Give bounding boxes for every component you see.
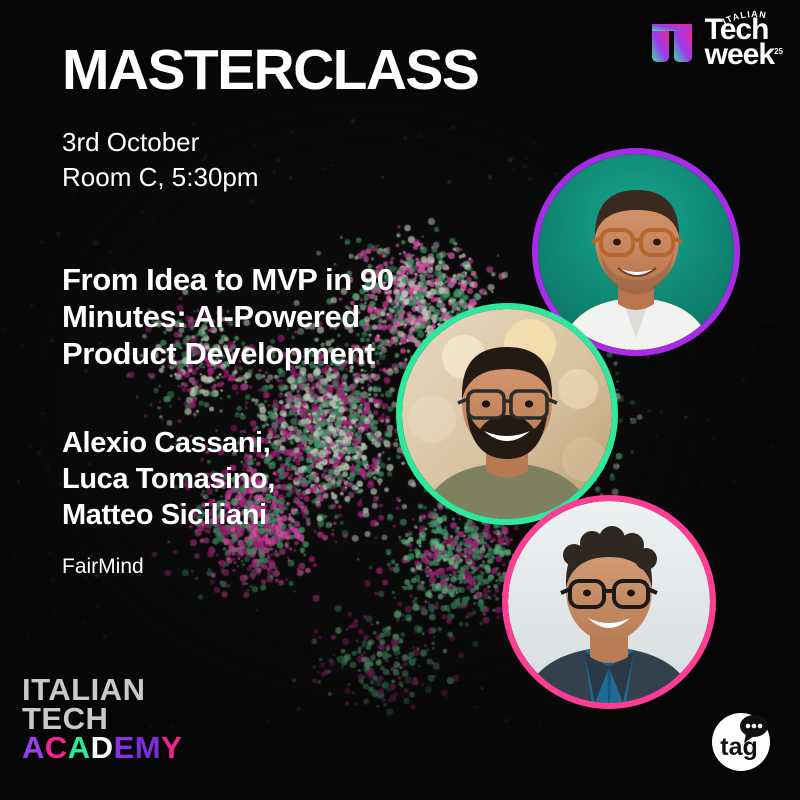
week-word: week xyxy=(705,43,774,68)
speaker-name-2: Luca Tomasino, xyxy=(62,462,482,498)
speaker-company: FairMind xyxy=(62,555,482,579)
speaker-names: Alexio Cassani, Luca Tomasino, Matteo Si… xyxy=(62,426,482,533)
tag-logo: tag xyxy=(708,706,774,772)
event-location: Room C, 5:30pm xyxy=(62,160,482,195)
academy-line-academy: ACADEMY xyxy=(22,733,182,762)
tag-logo-text: tag xyxy=(720,733,758,761)
italian-tech-week-logo: ITALIAN Tech week 25 xyxy=(649,18,774,67)
italian-tech-academy-logo: ITALIAN TECH ACADEMY xyxy=(22,675,182,762)
academy-letter-0: A xyxy=(22,733,45,762)
svg-text:ITALIAN: ITALIAN xyxy=(721,9,768,27)
speaker-photo-3-ring xyxy=(502,495,716,709)
academy-letter-1: C xyxy=(45,733,68,762)
tech-week-wordmark: ITALIAN Tech week 25 xyxy=(705,18,774,67)
academy-letter-2: A xyxy=(68,733,91,762)
speaker-name-1: Alexio Cassani, xyxy=(62,426,482,462)
academy-letter-4: E xyxy=(114,733,135,762)
speaker-name-3: Matteo Siciliani xyxy=(62,498,482,534)
event-date: 3rd October xyxy=(62,125,482,160)
page-title: MASTERCLASS xyxy=(62,42,482,99)
tech-week-mark-icon xyxy=(649,20,695,66)
academy-line-italian: ITALIAN xyxy=(22,675,182,704)
italian-arc-label: ITALIAN xyxy=(721,9,768,27)
academy-letter-6: Y xyxy=(161,733,182,762)
academy-line-tech: TECH xyxy=(22,704,182,733)
italian-arc-text: ITALIAN xyxy=(719,9,789,29)
poster-content: MASTERCLASS 3rd October Room C, 5:30pm F… xyxy=(62,0,482,579)
poster-canvas: ITALIAN Tech week 25 xyxy=(0,0,800,800)
year-superscript: 25 xyxy=(774,49,783,56)
academy-letter-3: D xyxy=(91,733,114,762)
event-meta: 3rd October Room C, 5:30pm xyxy=(62,125,482,195)
academy-letter-5: M xyxy=(135,733,161,762)
session-headline: From Idea to MVP in 90 Minutes: AI-Power… xyxy=(62,261,407,373)
